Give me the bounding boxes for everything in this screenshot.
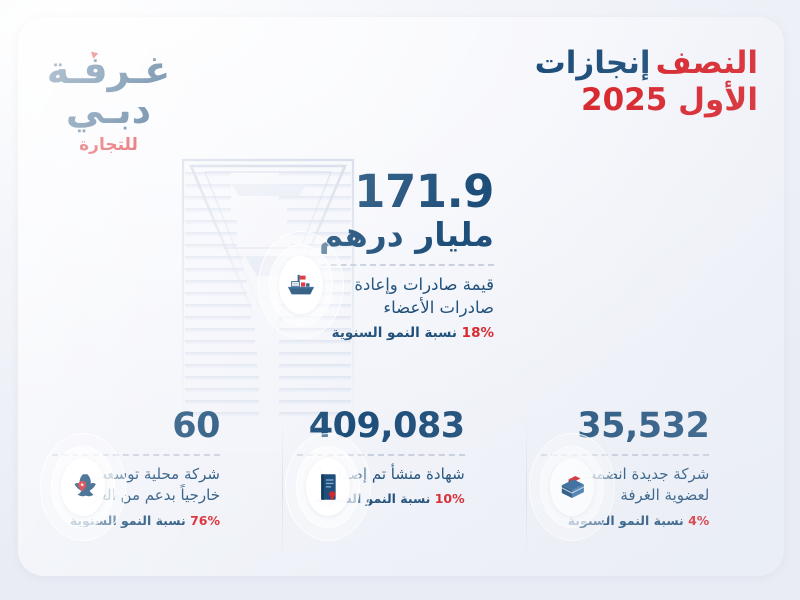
infographic-card: غـرفـة دبـي⯆ للتجارة النصف إنجازات الأول… (18, 17, 784, 576)
hero-value: 171.9 (309, 169, 494, 215)
page-background: غـرفـة دبـي⯆ للتجارة النصف إنجازات الأول… (0, 0, 800, 600)
dubai-chamber-logo: غـرفـة دبـي⯆ للتجارة (18, 51, 211, 155)
logo-wordmark: غـرفـة دبـي⯆ (18, 51, 211, 131)
hero-growth-pct: 18% (462, 325, 494, 341)
certificate-document-icon (311, 470, 345, 504)
stats-row: 35,532 شركة جديدة انضمت لعضوية الغرفة 4%… (38, 409, 772, 576)
hero-growth-label: نسبة النمو السنوية (332, 325, 457, 341)
certificate-icon-badge (285, 433, 371, 541)
cargo-ship-icon-badge (258, 231, 344, 339)
stat-card-certificates: 409,083 شهادة منشأ تم إصدارها 10% نسبة ا… (283, 409, 528, 576)
logo-subtitle: للتجارة (18, 135, 211, 155)
title-line-1: النصف إنجازات (458, 45, 758, 82)
stat-card-new-members: 35,532 شركة جديدة انضمت لعضوية الغرفة 4%… (527, 409, 772, 576)
title-red-part-1: النصف (656, 45, 758, 81)
briefcase-icon-badge (529, 433, 615, 541)
title-blue-part: إنجازات (535, 45, 651, 81)
stat-growth-pct: 10% (435, 491, 465, 506)
stat-card-global-expansion: 60 شركة محلية توسعت خارجياً بدعم من الغر… (38, 409, 283, 576)
logo-accent-mark: ⯆ (88, 49, 101, 64)
cargo-ship-icon (284, 268, 318, 302)
stat-growth-pct: 76% (190, 513, 220, 528)
globe-icon-badge (40, 433, 126, 541)
briefcase-icon (555, 470, 589, 504)
page-title: النصف إنجازات الأول 2025 (458, 45, 758, 118)
stat-growth-pct: 4% (688, 513, 709, 528)
title-line-2: الأول 2025 (458, 82, 758, 119)
globe-location-pin-icon (66, 470, 100, 504)
title-red-part-2: الأول 2025 (581, 82, 758, 118)
